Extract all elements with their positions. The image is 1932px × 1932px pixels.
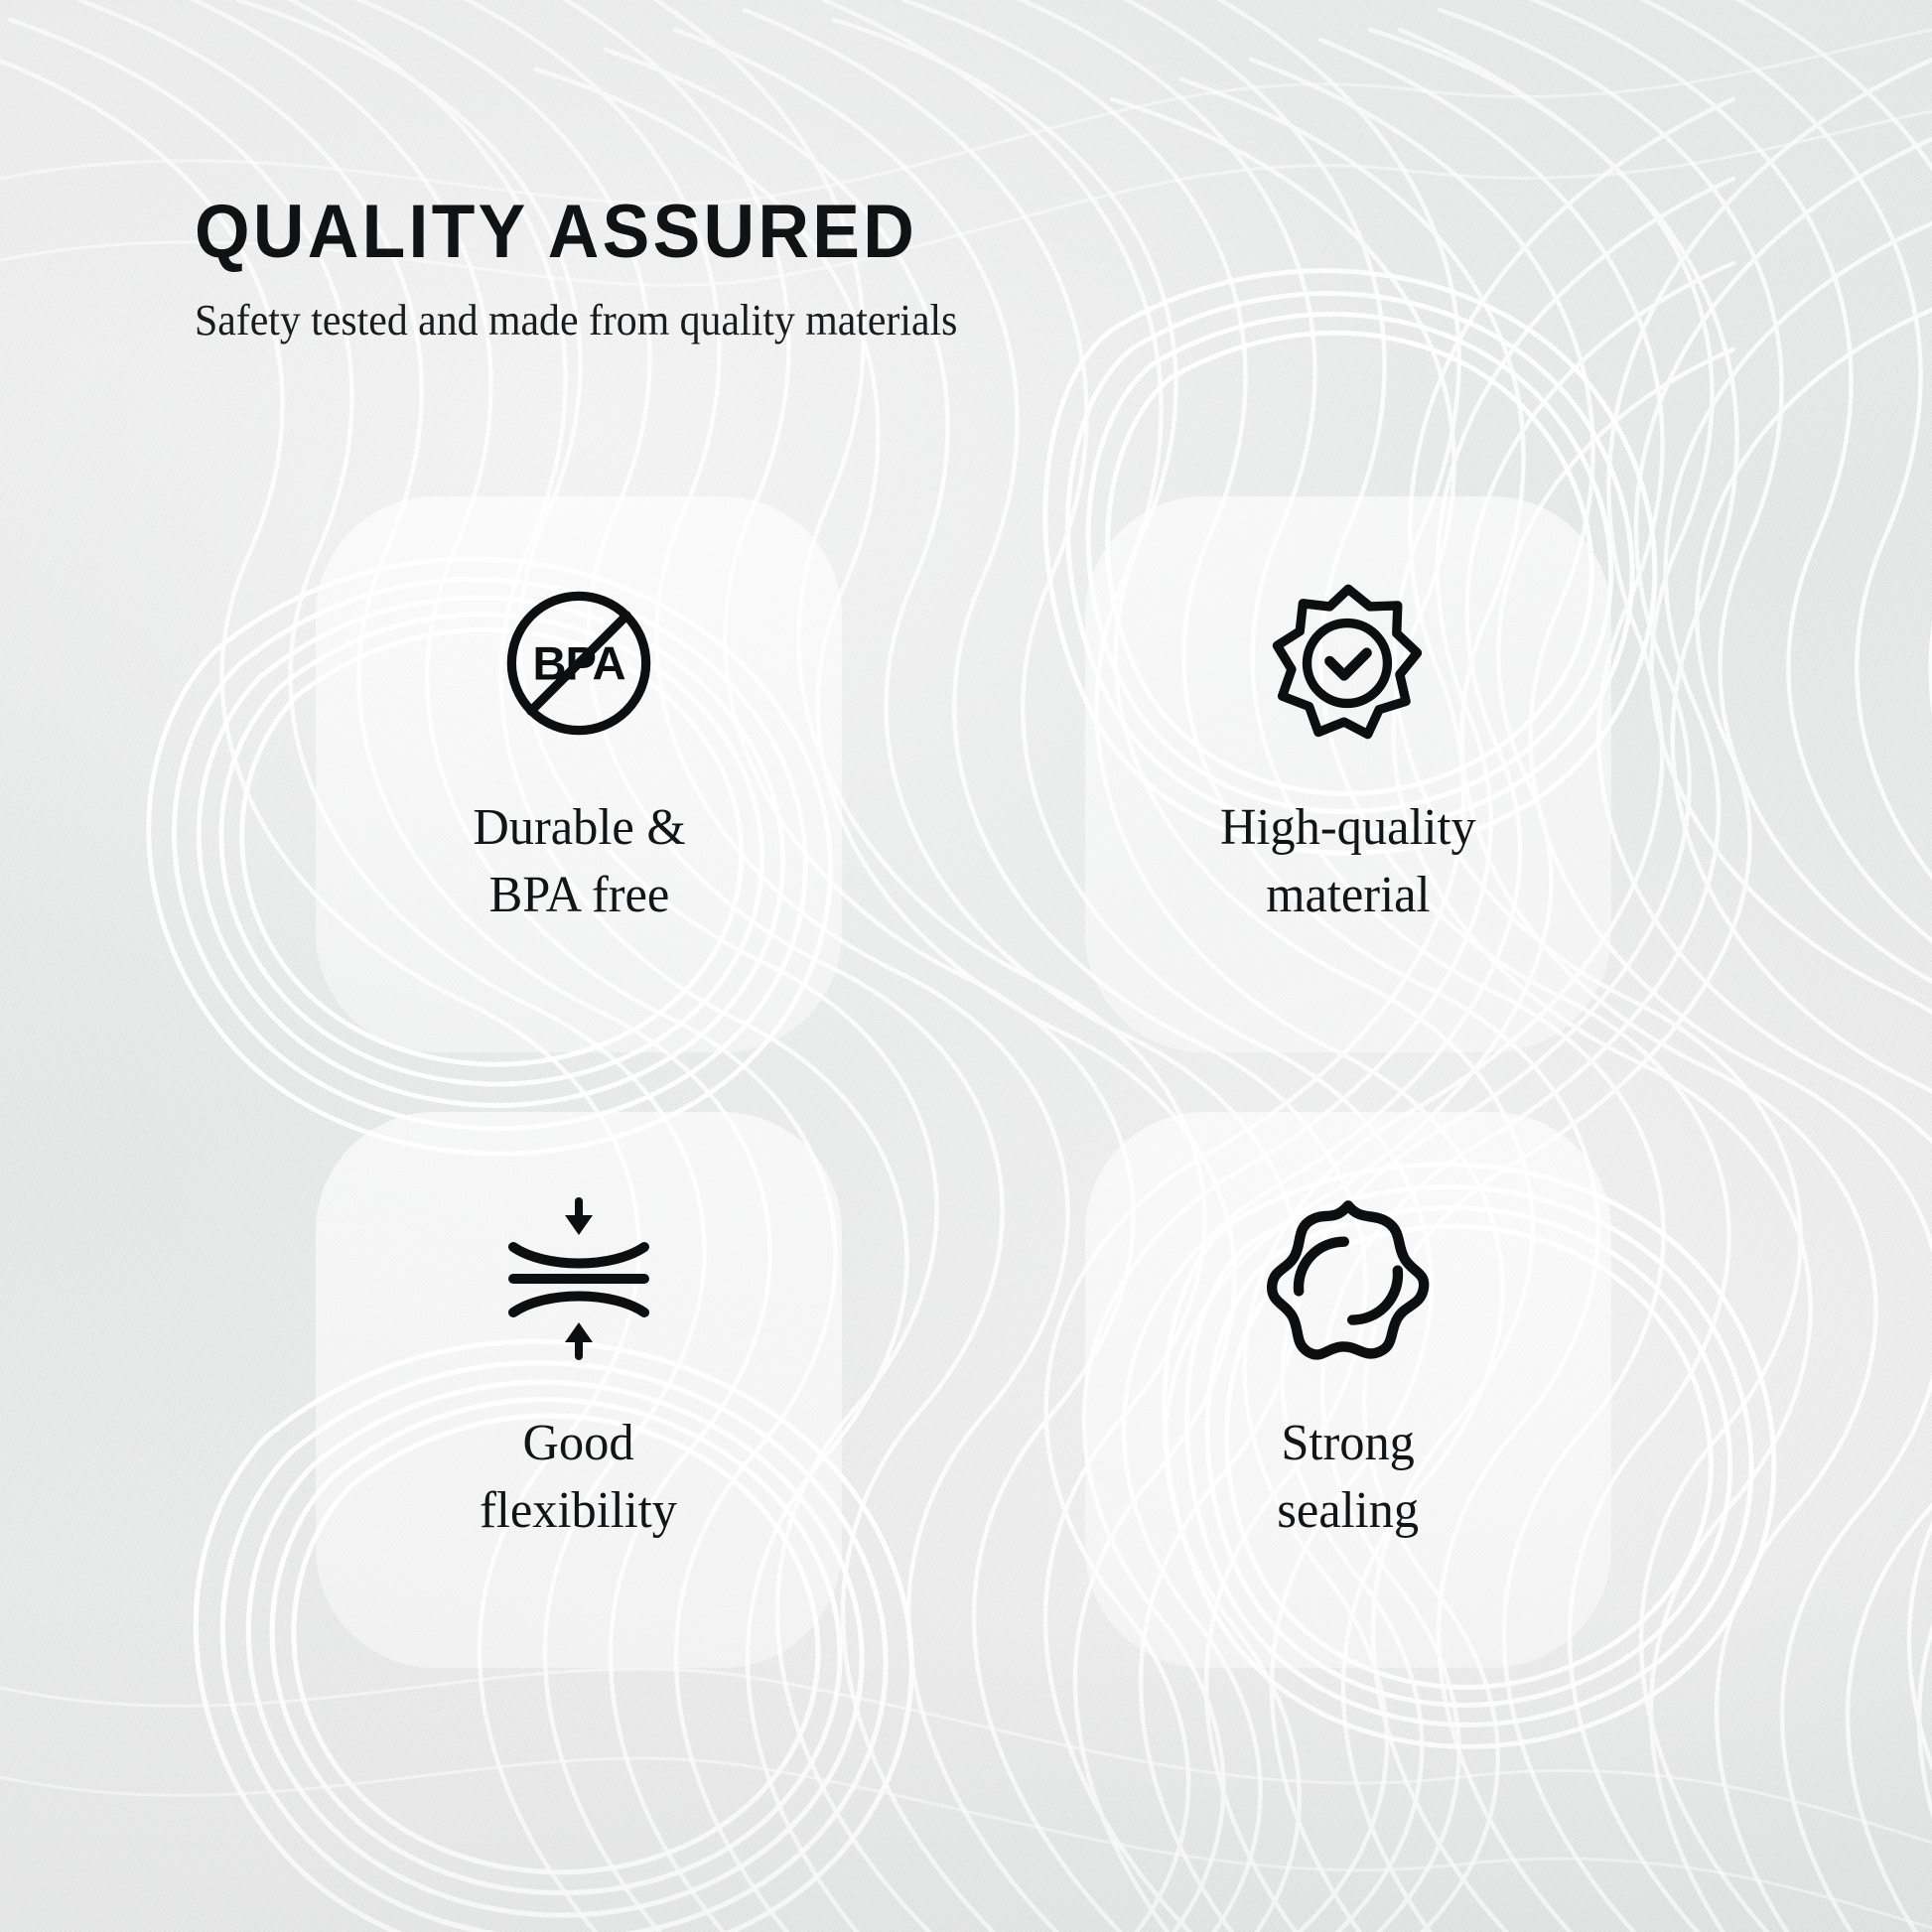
feature-card-durable-bpa-free[interactable]: BPA Durable & BPA free [316,496,842,1052]
quality-badge-check-icon [1266,584,1431,743]
feature-card-strong-sealing[interactable]: Strong sealing [1085,1112,1611,1668]
feature-label: High-quality material [1220,794,1476,928]
feature-label: Good flexibility [481,1410,678,1544]
flexibility-arrows-icon [499,1199,658,1358]
quality-assured-infographic: QUALITY ASSURED Safety tested and made f… [0,0,1932,1932]
feature-card-high-quality-material[interactable]: High-quality material [1085,496,1611,1052]
bpa-free-icon: BPA [497,584,660,743]
seal-rosette-icon [1266,1199,1431,1358]
feature-label: Durable & BPA free [473,794,685,928]
feature-label: Strong sealing [1278,1410,1420,1544]
content-layer: QUALITY ASSURED Safety tested and made f… [0,0,1932,1932]
feature-card-grid: BPA Durable & BPA free High-quality mate… [0,0,1932,1932]
svg-text:BPA: BPA [533,636,625,689]
feature-card-good-flexibility[interactable]: Good flexibility [316,1112,842,1668]
